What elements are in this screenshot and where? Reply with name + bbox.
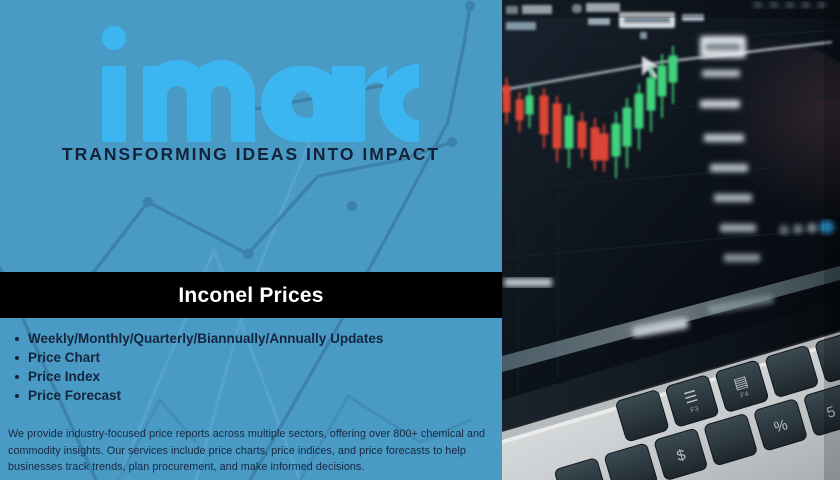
- feature-list: Weekly/Monthly/Quarterly/Biannually/Annu…: [0, 330, 502, 406]
- brand-tagline: TRANSFORMING IDEAS INTO IMPACT: [0, 146, 502, 164]
- laptop-trading-photo: ☼ $ % 5 ☰ ▤ F3 F4: [502, 0, 840, 480]
- list-item-label: Weekly/Monthly/Quarterly/Biannually/Annu…: [28, 331, 383, 346]
- poster-canvas: TRANSFORMING IDEAS INTO IMPACT Inconel P…: [0, 0, 840, 480]
- brand-block: TRANSFORMING IDEAS INTO IMPACT: [0, 18, 502, 164]
- list-item: Price Index: [0, 368, 502, 385]
- bullet-icon: [15, 356, 19, 360]
- description-paragraph: We provide industry-focused price report…: [8, 426, 494, 476]
- left-content-panel: TRANSFORMING IDEAS INTO IMPACT Inconel P…: [0, 0, 502, 480]
- laptop-trading-photo-art: ☼ $ % 5 ☰ ▤ F3 F4: [502, 0, 840, 480]
- list-item: Weekly/Monthly/Quarterly/Biannually/Annu…: [0, 330, 502, 347]
- bullet-icon: [15, 394, 19, 398]
- list-item-label: Price Index: [28, 369, 100, 384]
- title-bar: Inconel Prices: [0, 272, 502, 318]
- list-item-label: Price Forecast: [28, 388, 121, 403]
- list-item: Price Chart: [0, 349, 502, 366]
- page-title: Inconel Prices: [178, 285, 323, 306]
- list-item-label: Price Chart: [28, 350, 100, 365]
- imarc-logo: [81, 18, 421, 142]
- list-item: Price Forecast: [0, 387, 502, 404]
- bullet-icon: [15, 375, 19, 379]
- bullet-icon: [15, 337, 19, 341]
